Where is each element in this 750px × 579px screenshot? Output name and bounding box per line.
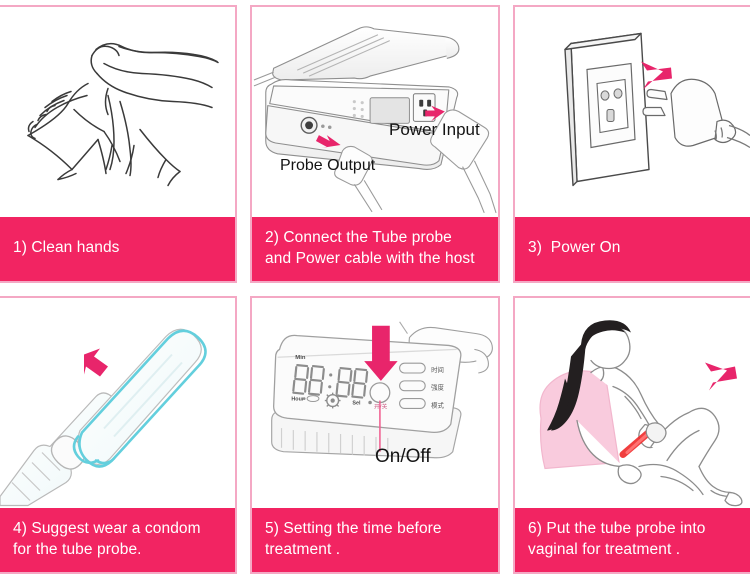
svg-text:Min: Min	[295, 355, 306, 361]
panel-4-caption: 4) Suggest wear a condom for the tube pr…	[0, 508, 235, 572]
svg-text:Hour: Hour	[291, 397, 305, 403]
instruction-steps-grid: 1) Clean hands	[0, 0, 750, 579]
function-buttons[interactable]: 时间 强度 模式	[400, 363, 445, 409]
panel-4-caption-line-2: for the tube probe.	[13, 540, 222, 561]
on-off-label: On/Off	[375, 446, 431, 468]
instruction-panel-5: Min	[250, 296, 500, 574]
panel-1-caption: 1) Clean hands	[0, 217, 235, 281]
panel-2-caption-line-2: and Power cable with the host	[265, 249, 485, 270]
svg-text:Sel: Sel	[352, 400, 361, 406]
panel-6-caption-line-2: vaginal for treatment .	[528, 540, 737, 561]
probe-output-label: Probe Output	[280, 157, 375, 175]
panel-5-caption: 5) Setting the time before treatment .	[252, 508, 498, 572]
sheath-direction-arrow	[84, 349, 108, 377]
panel-3-illustration	[515, 7, 750, 217]
hands-cleaning-icon	[0, 7, 235, 217]
control-panel-icon: Min	[252, 298, 498, 508]
svg-text:强度: 强度	[431, 383, 444, 392]
svg-text:开/关: 开/关	[374, 402, 388, 410]
power-input-label: Power Input	[389, 120, 480, 140]
treatment-position-icon	[515, 298, 750, 508]
panel-3-caption-line-1: 3) Power On	[528, 238, 737, 259]
panel-5-caption-line-1: 5) Setting the time before	[265, 519, 485, 540]
panel-3-caption: 3) Power On	[515, 217, 750, 281]
plug-direction-arrow	[641, 62, 672, 90]
panel-2-illustration: Power Input Probe Output	[252, 7, 498, 217]
svg-text:时间: 时间	[431, 365, 444, 374]
panel-6-illustration	[515, 298, 750, 508]
panel-6-caption: 6) Put the tube probe into vaginal for t…	[515, 508, 750, 572]
panel-6-caption-line-1: 6) Put the tube probe into	[528, 519, 737, 540]
instruction-panel-1: 1) Clean hands	[0, 5, 237, 283]
instruction-panel-6: 6) Put the tube probe into vaginal for t…	[513, 296, 750, 574]
panel-2-caption: 2) Connect the Tube probe and Power cabl…	[252, 217, 498, 281]
panel-5-caption-line-2: treatment .	[265, 540, 485, 561]
panel-4-caption-line-1: 4) Suggest wear a condom	[13, 519, 222, 540]
panel-5-illustration: Min	[252, 298, 498, 508]
panel-2-caption-line-1: 2) Connect the Tube probe	[265, 228, 485, 249]
panel-4-illustration	[0, 298, 235, 508]
host-device-connections-icon	[252, 7, 498, 217]
instruction-panel-2: Power Input Probe Output 2) Connect the …	[250, 5, 500, 283]
panel-1-illustration	[0, 7, 235, 217]
wall-socket-plug-icon	[515, 7, 750, 217]
insertion-direction-arrow	[705, 363, 737, 391]
panel-1-caption-line-1: 1) Clean hands	[13, 238, 222, 259]
instruction-panel-3: 3) Power On	[513, 5, 750, 283]
instruction-panel-4: 4) Suggest wear a condom for the tube pr…	[0, 296, 237, 574]
tube-probe-sheath-icon	[0, 298, 235, 508]
svg-text:模式: 模式	[431, 400, 444, 409]
